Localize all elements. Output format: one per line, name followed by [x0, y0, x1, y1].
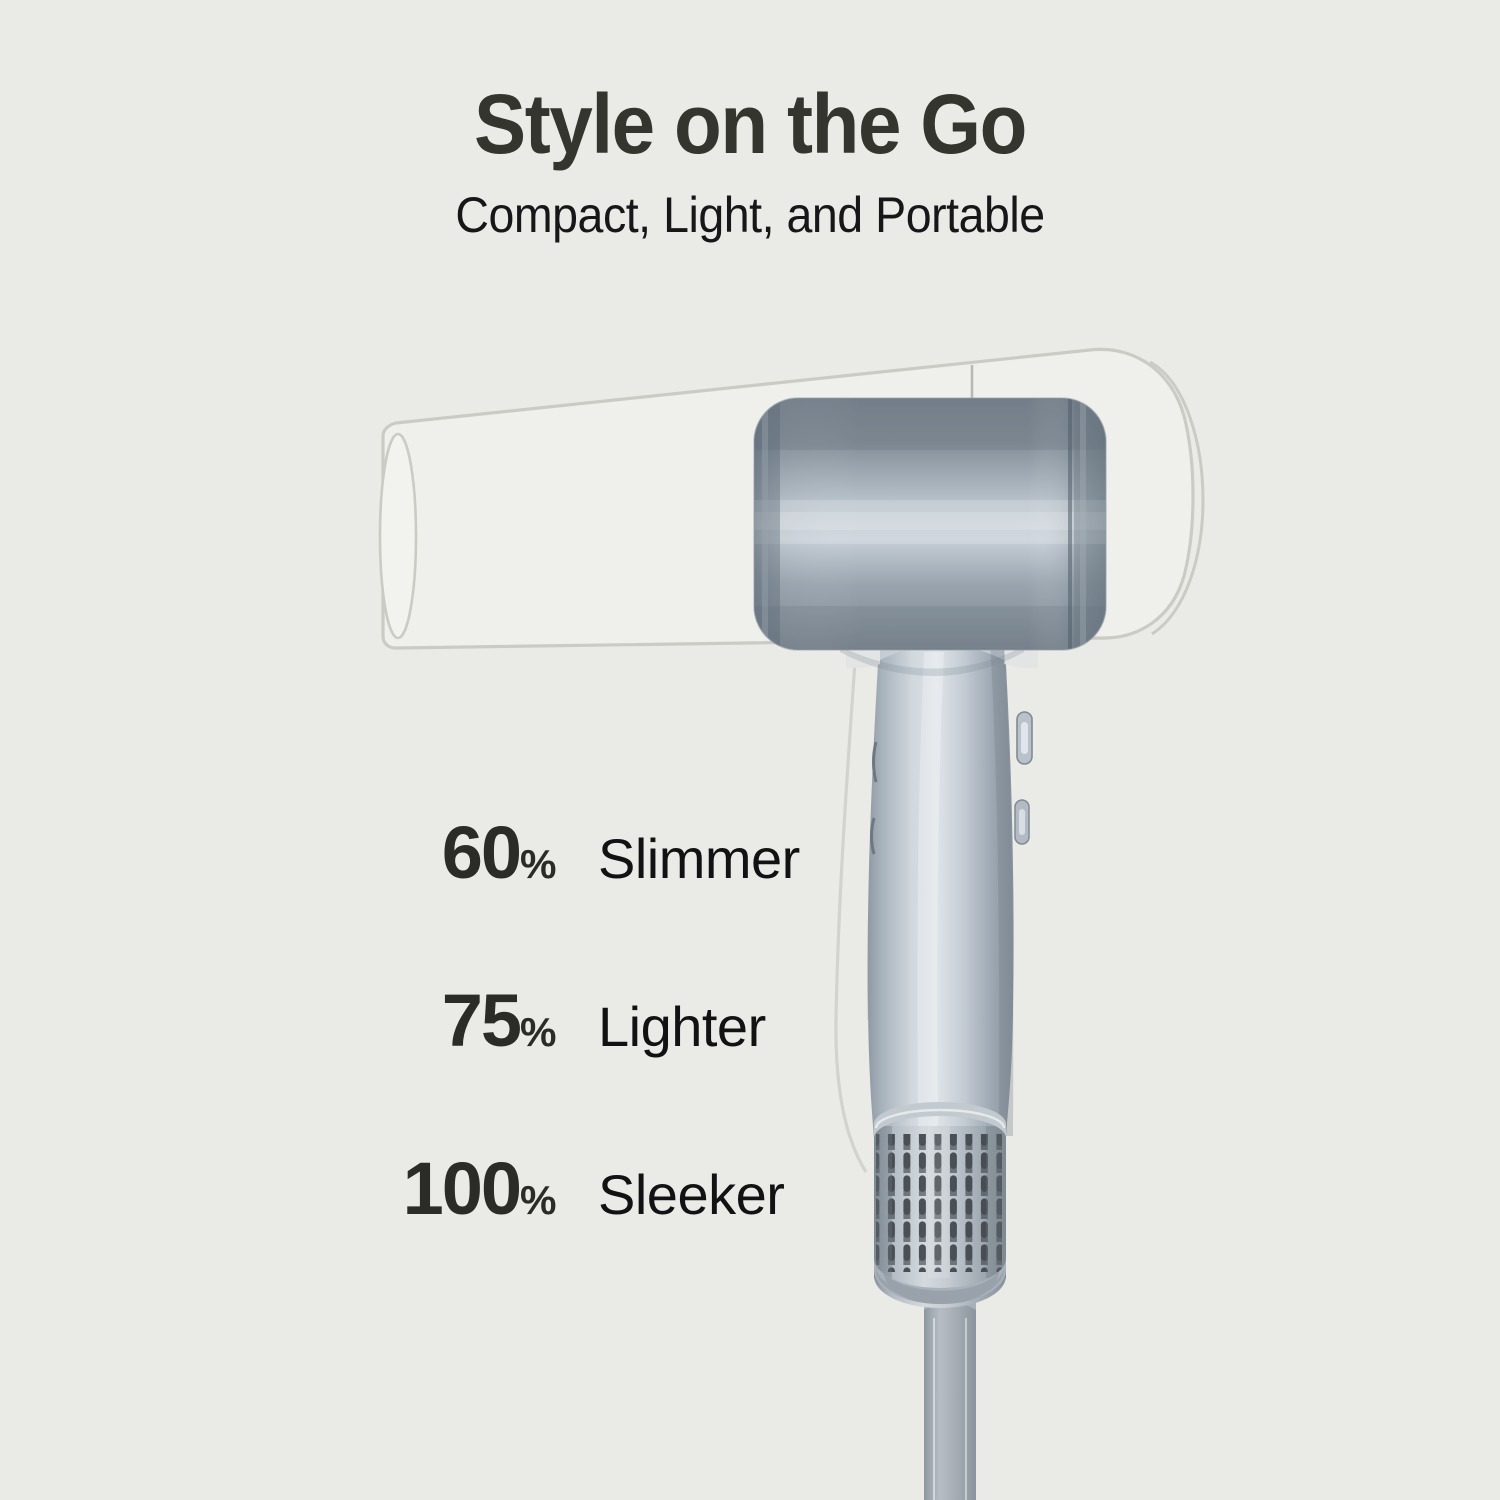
stat-unit: %: [520, 1177, 556, 1223]
dryer-handle: [846, 620, 1038, 1139]
stat-row: 75% Lighter: [356, 978, 826, 1146]
stat-row: 100% Sleeker: [356, 1146, 826, 1314]
stat-label: Sleeker: [598, 1162, 784, 1227]
stat-value: 60: [442, 811, 520, 894]
stat-value-group: 60%: [356, 810, 556, 895]
stat-row: 60% Slimmer: [356, 810, 826, 978]
stat-value: 100: [403, 1147, 520, 1230]
stat-value-group: 75%: [356, 978, 556, 1063]
stat-value-group: 100%: [356, 1146, 556, 1231]
stat-label: Lighter: [598, 994, 766, 1059]
stat-unit: %: [520, 841, 556, 887]
stat-unit: %: [520, 1009, 556, 1055]
power-cord: [924, 1292, 976, 1500]
dryer-head: [754, 398, 1106, 676]
stat-value: 75: [442, 979, 520, 1062]
page-subtitle: Compact, Light, and Portable: [53, 190, 1448, 240]
handle-notch-upper: [874, 742, 877, 782]
header-block: Style on the Go Compact, Light, and Port…: [0, 0, 1500, 240]
filter-mesh: [874, 1102, 1006, 1308]
mode-button[interactable]: [1015, 800, 1029, 844]
handle-notch-lower: [872, 818, 875, 854]
stat-label: Slimmer: [598, 826, 800, 891]
power-button[interactable]: [1017, 712, 1032, 764]
stats-list: 60% Slimmer 75% Lighter 100% Sleeker: [356, 810, 826, 1314]
page-title: Style on the Go: [53, 82, 1448, 166]
product-marketing-banner: Style on the Go Compact, Light, and Port…: [0, 0, 1500, 1500]
